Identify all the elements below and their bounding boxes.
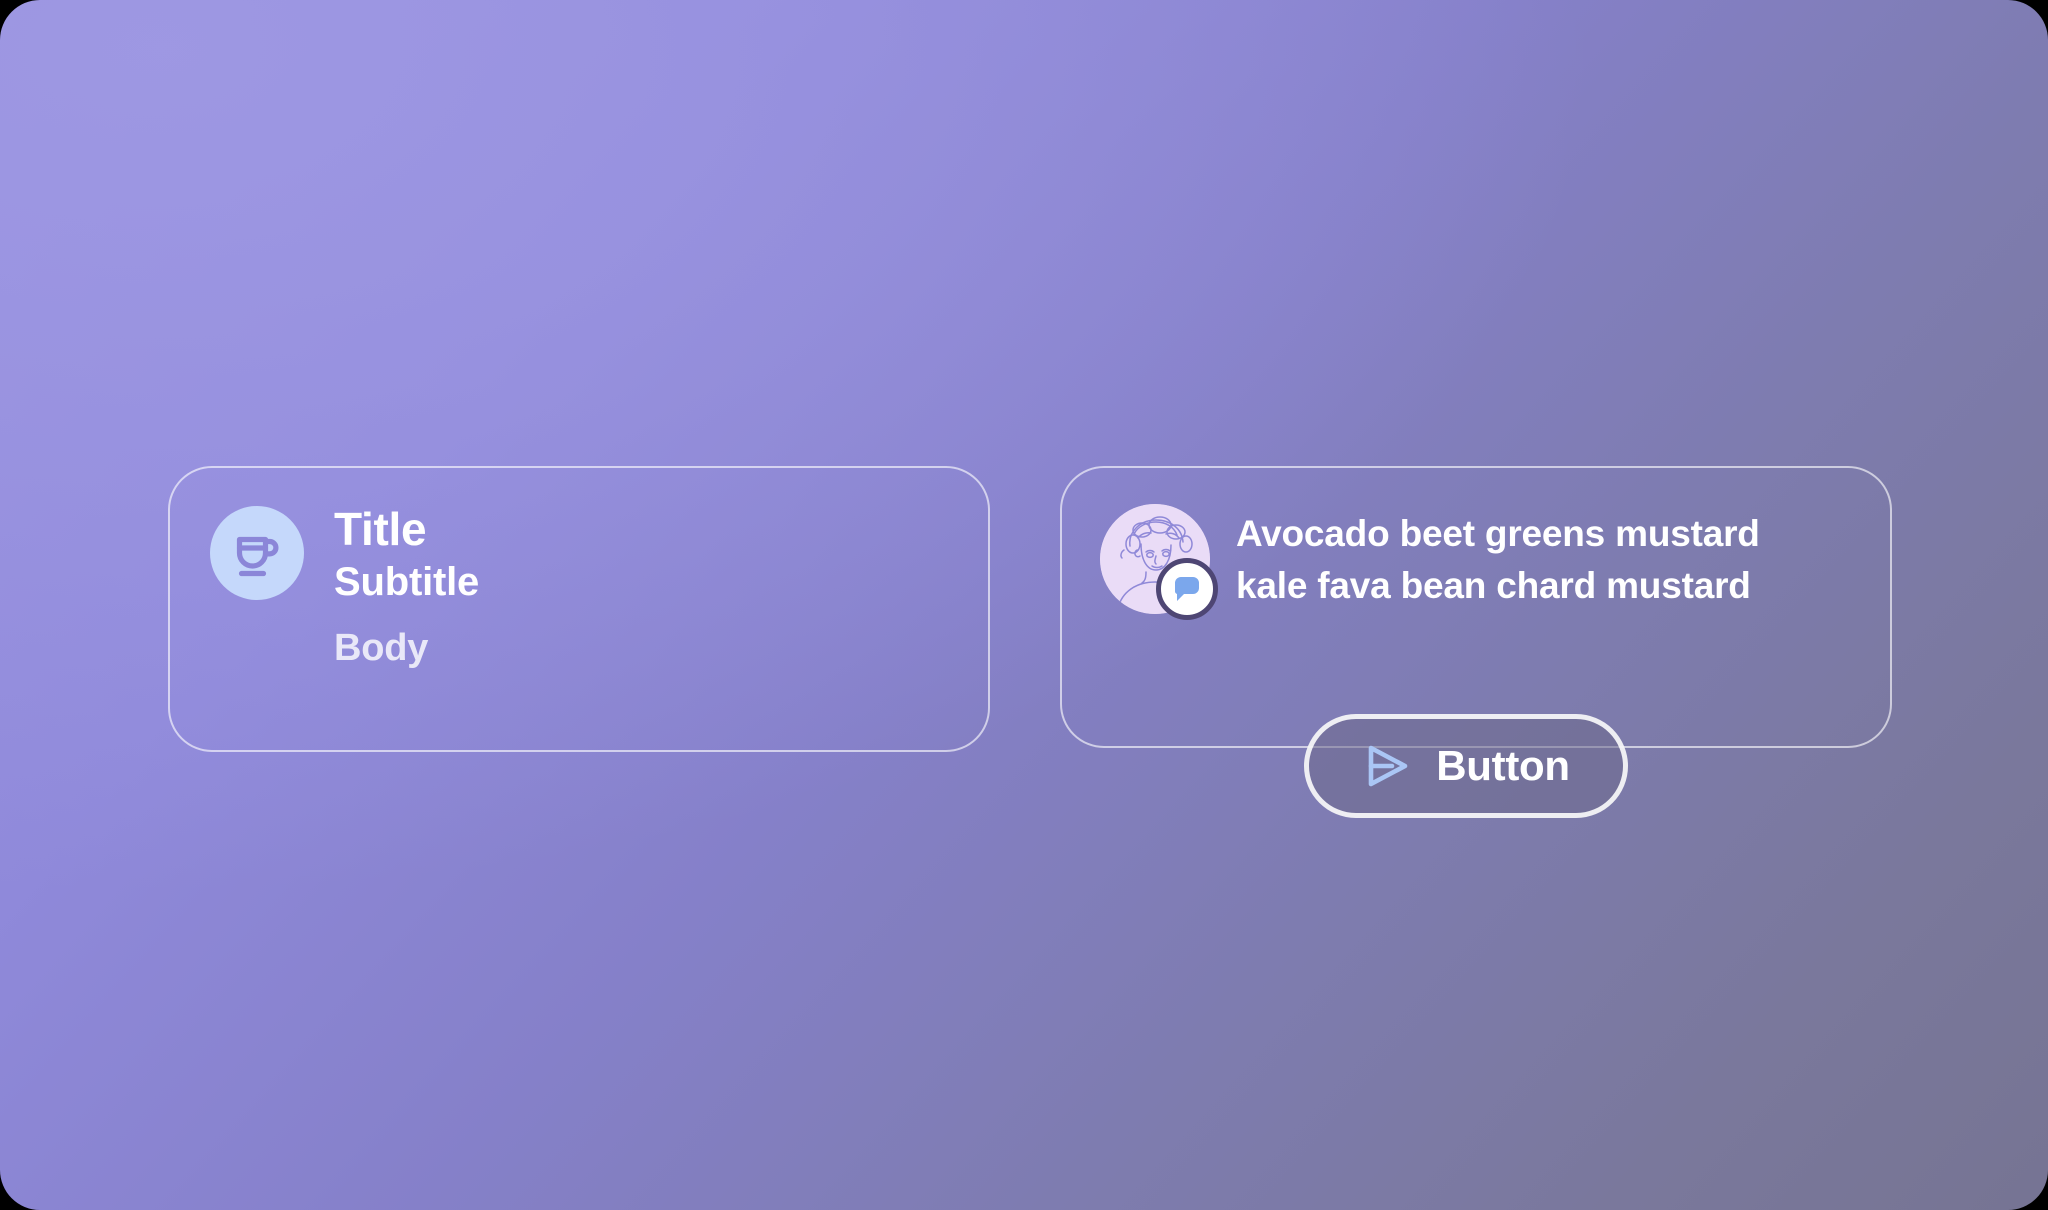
left-card-text-block: Title Subtitle Body [334,502,479,673]
info-card-left[interactable]: Title Subtitle Body [168,466,990,752]
right-card-text: Avocado beet greens mustard kale fava be… [1236,502,1836,612]
send-icon [1362,741,1412,791]
card-body: Body [334,624,479,673]
card-title: Title [334,504,479,556]
send-button[interactable]: Button [1304,714,1628,818]
coffee-cup-icon [210,506,304,600]
card-subtitle: Subtitle [334,556,479,608]
avatar [1100,504,1210,614]
chat-bubble-badge [1156,558,1218,620]
app-canvas: Title Subtitle Body [0,0,2048,1210]
info-card-right[interactable]: Avocado beet greens mustard kale fava be… [1060,466,1892,748]
send-button-label: Button [1436,745,1569,787]
